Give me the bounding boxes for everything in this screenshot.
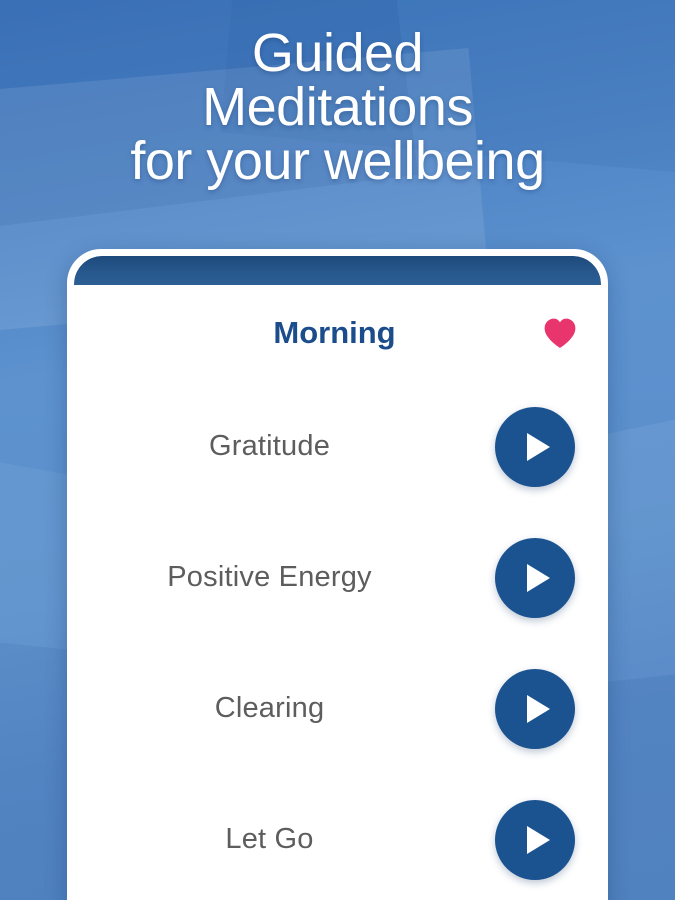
list-item[interactable]: Positive Energy <box>100 512 575 643</box>
list-item[interactable]: Let Go <box>100 774 575 900</box>
headline-line-3: for your wellbeing <box>0 134 675 188</box>
headline-line-2: Meditations <box>0 80 675 134</box>
play-button[interactable] <box>495 669 575 749</box>
meditation-track-list: Gratitude Positive Energy Clearing <box>74 381 601 900</box>
app-status-bar <box>74 256 601 285</box>
play-button[interactable] <box>495 538 575 618</box>
track-title: Clearing <box>114 692 495 725</box>
page-title: Guided Meditations for your wellbeing <box>0 26 675 188</box>
phone-mockup-card: Morning Gratitude Positive Energy <box>67 249 608 900</box>
heart-icon[interactable] <box>543 316 577 350</box>
list-item[interactable]: Gratitude <box>100 381 575 512</box>
play-icon <box>527 564 550 592</box>
category-title: Morning <box>273 315 401 351</box>
headline-line-1: Guided <box>0 26 675 80</box>
track-title: Gratitude <box>114 430 495 463</box>
app-screenshot: Guided Meditations for your wellbeing Mo… <box>0 0 675 900</box>
play-icon <box>527 433 550 461</box>
play-button[interactable] <box>495 407 575 487</box>
track-title: Let Go <box>114 823 495 856</box>
play-icon <box>527 826 550 854</box>
list-item[interactable]: Clearing <box>100 643 575 774</box>
play-icon <box>527 695 550 723</box>
phone-screen: Morning Gratitude Positive Energy <box>74 256 601 900</box>
play-button[interactable] <box>495 800 575 880</box>
category-header: Morning <box>74 285 601 381</box>
track-title: Positive Energy <box>114 561 495 594</box>
